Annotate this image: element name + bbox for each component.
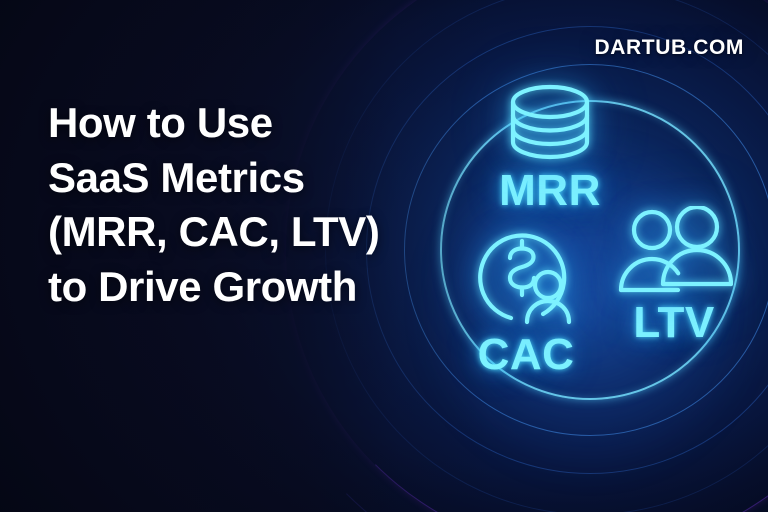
metric-cac: CAC [467,222,585,380]
metric-label-cac: CAC [478,330,575,380]
database-cylinder-icon [497,82,603,162]
thumbnail-canvas: DARTUB.COM How to Use SaaS Metrics (MRR,… [0,0,768,512]
page-title: How to Use SaaS Metrics (MRR, CAC, LTV) … [48,96,428,314]
metric-label-mrr: MRR [499,166,601,216]
metric-ltv: LTV [615,206,733,348]
dollar-circle-person-icon [467,222,585,330]
title-line-4: to Drive Growth [48,260,428,315]
title-line-2: SaaS Metrics [48,151,428,206]
site-logo: DARTUB.COM [595,36,744,60]
title-line-3: (MRR, CAC, LTV) [48,205,428,260]
metric-mrr: MRR [497,82,603,216]
two-people-icon [615,206,733,298]
metric-label-ltv: LTV [633,298,714,348]
title-line-1: How to Use [48,96,428,151]
